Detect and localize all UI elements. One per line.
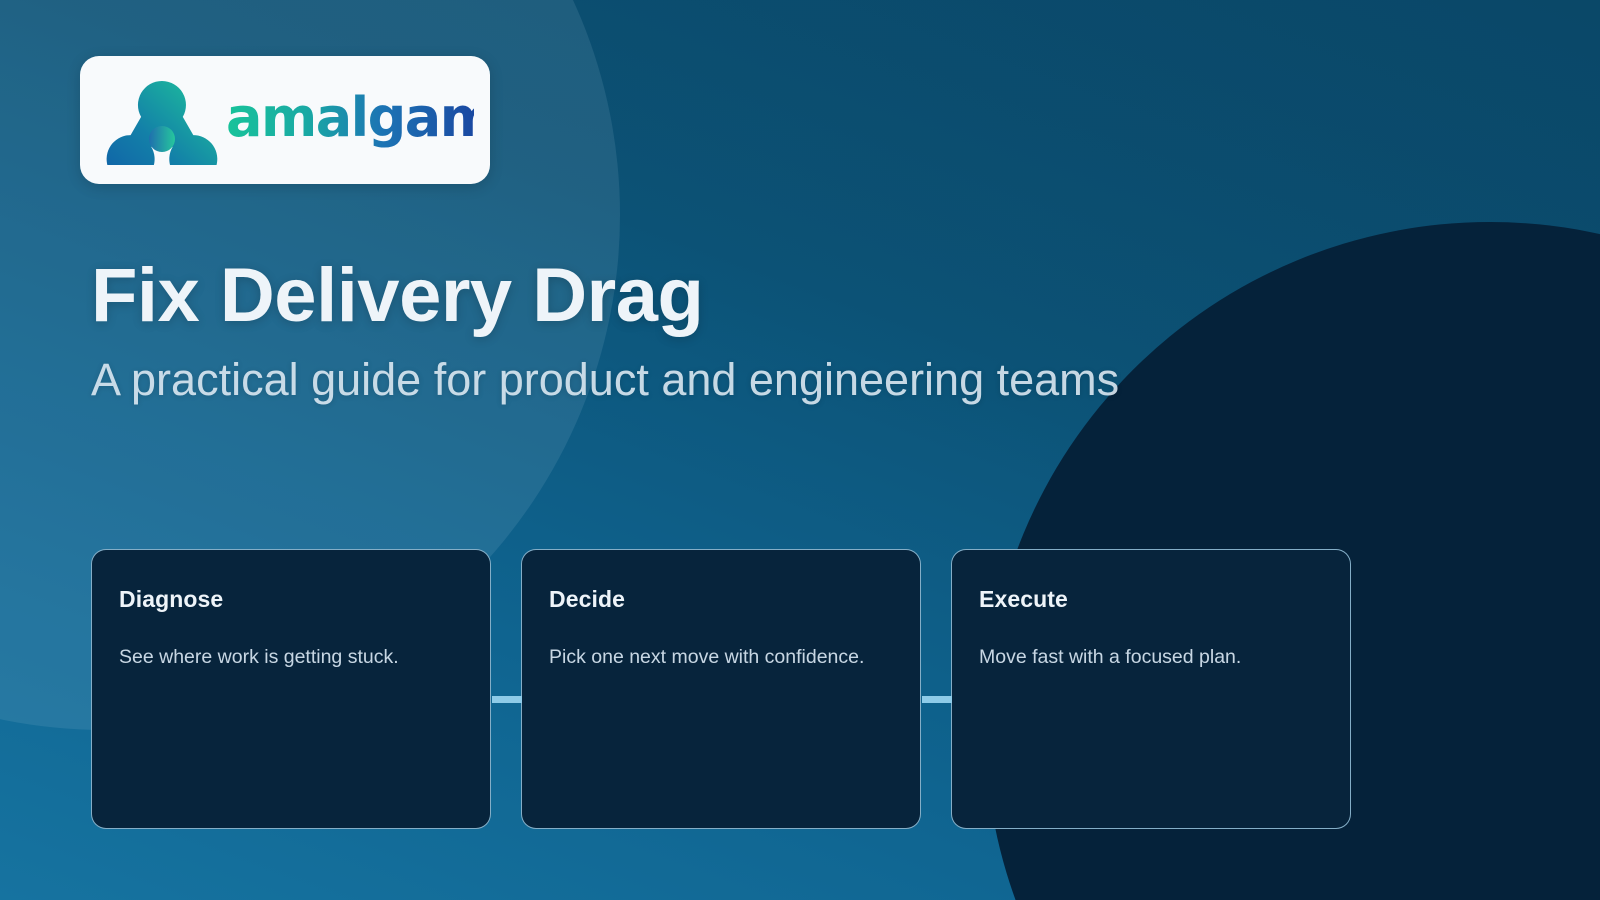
card-title: Diagnose <box>119 586 463 613</box>
card-body: See where work is getting stuck. <box>119 644 463 670</box>
step-card-execute[interactable]: Execute Move fast with a focused plan. <box>951 549 1351 829</box>
step-connector-1 <box>492 696 522 703</box>
brand-logo-chip[interactable]: amalgam <box>80 56 490 184</box>
headline-block: Fix Delivery Drag A practical guide for … <box>91 258 1411 405</box>
card-title: Decide <box>549 586 893 613</box>
slide-canvas: amalgam Fix Delivery Drag A practical gu… <box>0 0 1600 900</box>
step-card-row: Diagnose See where work is getting stuck… <box>91 549 1351 829</box>
page-subtitle: A practical guide for product and engine… <box>91 356 1411 405</box>
step-card-diagnose[interactable]: Diagnose See where work is getting stuck… <box>91 549 491 829</box>
card-body: Move fast with a focused plan. <box>979 644 1323 670</box>
page-title: Fix Delivery Drag <box>91 258 1411 334</box>
brand-wordmark: amalgam <box>226 89 474 151</box>
step-card-decide[interactable]: Decide Pick one next move with confidenc… <box>521 549 921 829</box>
molecule-trefoil-icon <box>102 75 222 165</box>
step-connector-2 <box>922 696 952 703</box>
card-title: Execute <box>979 586 1323 613</box>
svg-text:amalgam: amalgam <box>226 89 474 149</box>
card-body: Pick one next move with confidence. <box>549 644 893 670</box>
